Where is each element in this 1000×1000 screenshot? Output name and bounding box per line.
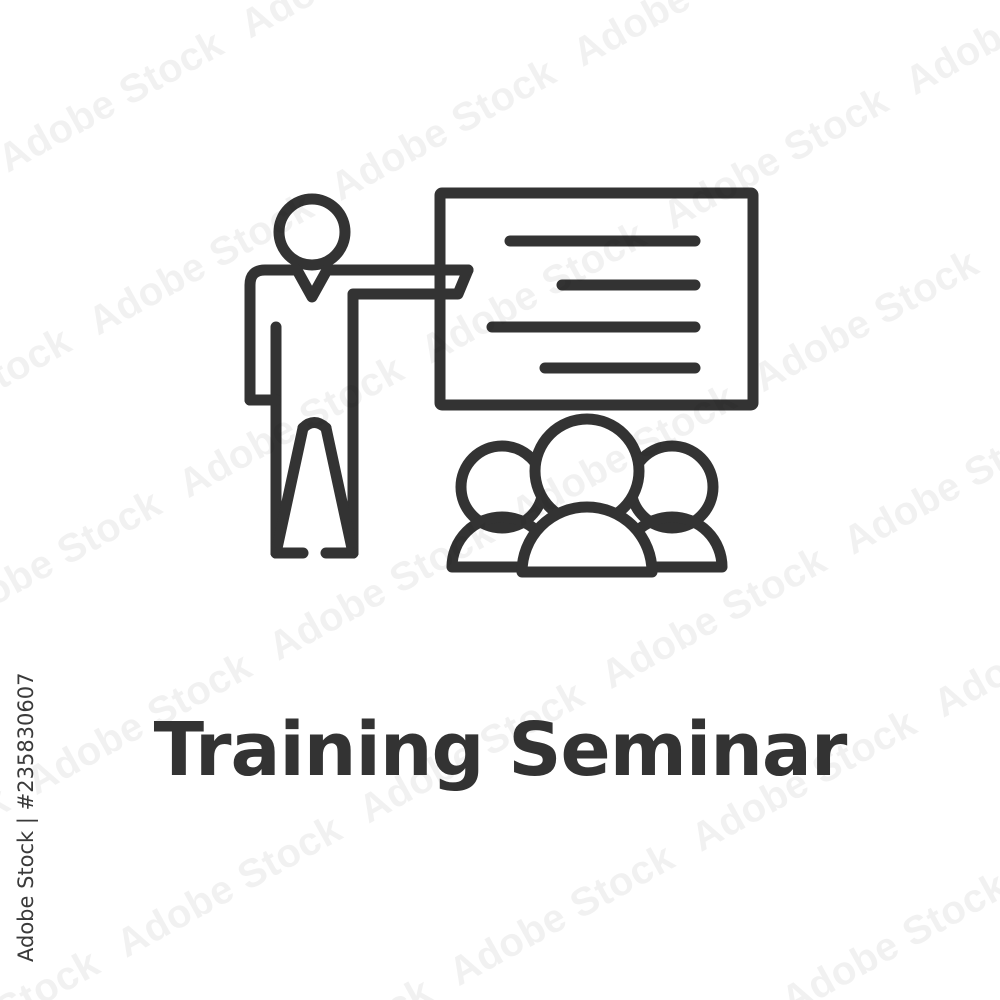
watermark-text: Adobe Stock [407, 760, 739, 1000]
training-seminar-icon [230, 175, 775, 600]
watermark-text: Adobe Stock [531, 0, 863, 137]
audience-center-shoulders [522, 507, 652, 572]
title-block: Training Seminar [0, 713, 1000, 787]
watermark-text: Adobe Stock [954, 31, 1000, 328]
watermark-text: Adobe Stock [740, 788, 1000, 1000]
watermark-text: Adobe Stock [802, 328, 1000, 625]
screenshot-canvas: Adobe Stock Adobe Stock Adobe Stock Adob… [0, 0, 1000, 1000]
watermark-text: Adobe Stock [199, 0, 531, 109]
credit-strip: Adobe Stock | #235830607 [0, 0, 52, 1000]
watermark-text: Adobe Stock [497, 922, 829, 1000]
watermark-text: Adobe Stock [830, 951, 1000, 1000]
presenter-crotch [303, 423, 326, 429]
stock-credit-label: Adobe Stock | #235830607 [14, 673, 38, 963]
presenter-head-icon [279, 199, 345, 265]
page-title: Training Seminar [0, 713, 1000, 787]
watermark-text: Adobe Stock [982, 654, 1000, 951]
watermark-text: Adobe Stock [165, 894, 497, 1000]
watermark-text: Adobe Stock [773, 0, 1000, 3]
training-seminar-illustration [230, 175, 775, 600]
watermark-text: Adobe Stock [864, 0, 1000, 166]
